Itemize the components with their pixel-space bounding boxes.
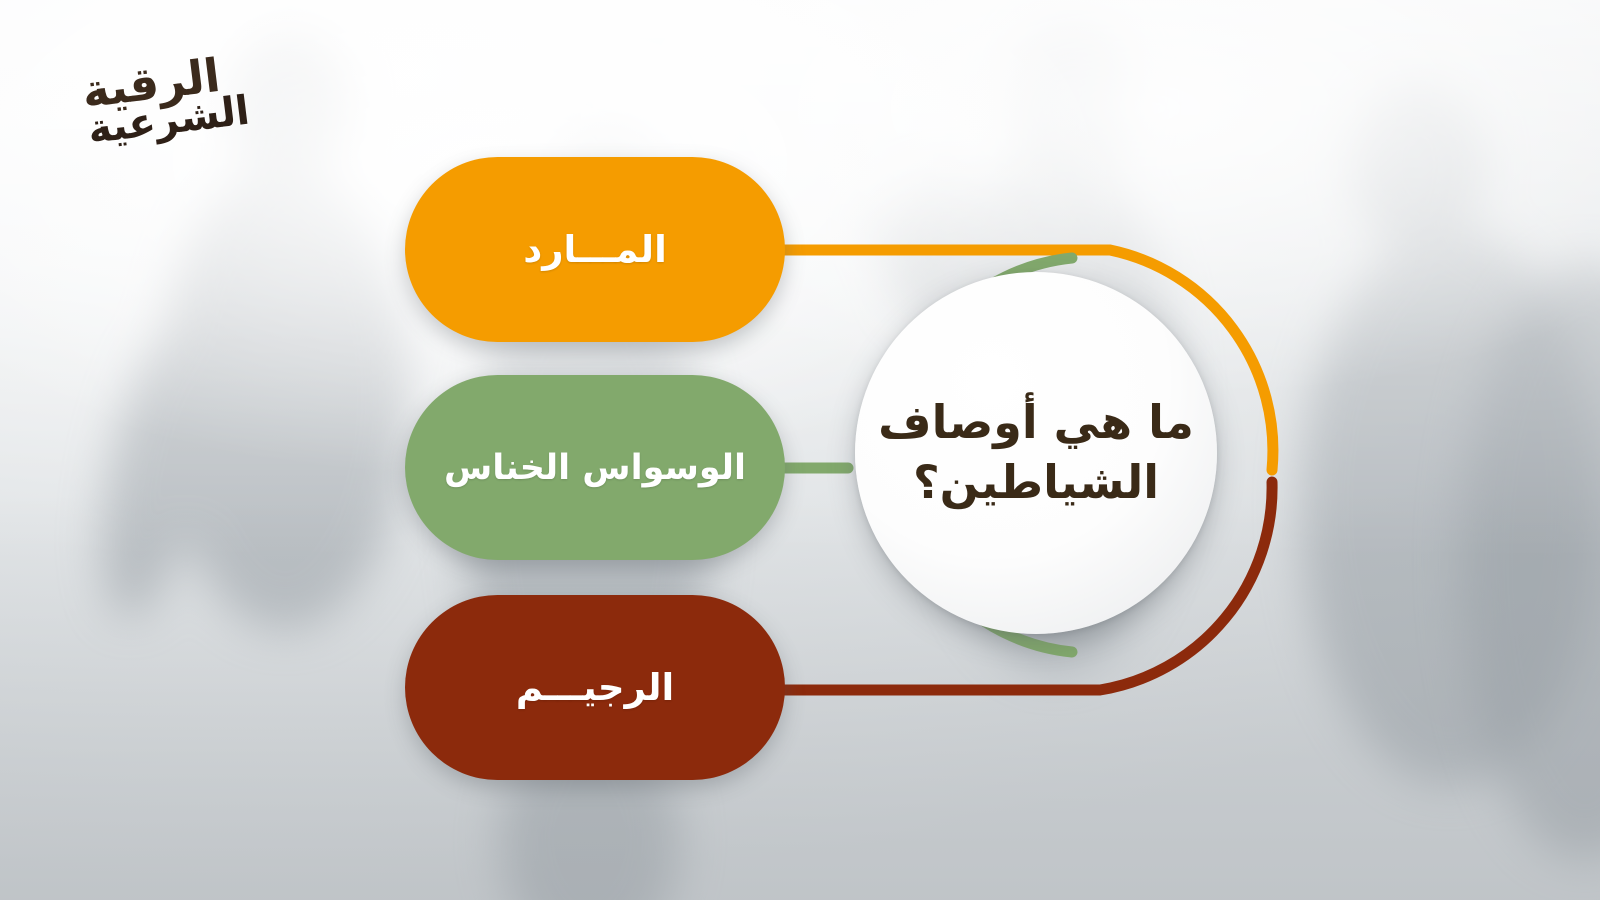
central-question-line1: ما هي أوصاف xyxy=(878,393,1194,453)
branch-pill-label: المـــارد xyxy=(523,228,667,271)
branch-pill-label: الرجيـــم xyxy=(516,666,674,709)
branch-pill-waswas-khannas[interactable]: الوسواس الخناس xyxy=(405,375,785,560)
central-question-circle: ما هي أوصاف الشياطين؟ xyxy=(855,272,1217,634)
branch-pill-label: الوسواس الخناس xyxy=(444,448,746,488)
connector-lines xyxy=(0,0,1600,900)
infographic-canvas: الرقية الشرعية ما هي أوصاف الشياطين؟ الم… xyxy=(0,0,1600,900)
central-question-line2: الشياطين؟ xyxy=(878,453,1194,513)
central-question-text: ما هي أوصاف الشياطين؟ xyxy=(856,393,1216,513)
branch-pill-marid[interactable]: المـــارد xyxy=(405,157,785,342)
branch-pill-rajim[interactable]: الرجيـــم xyxy=(405,595,785,780)
